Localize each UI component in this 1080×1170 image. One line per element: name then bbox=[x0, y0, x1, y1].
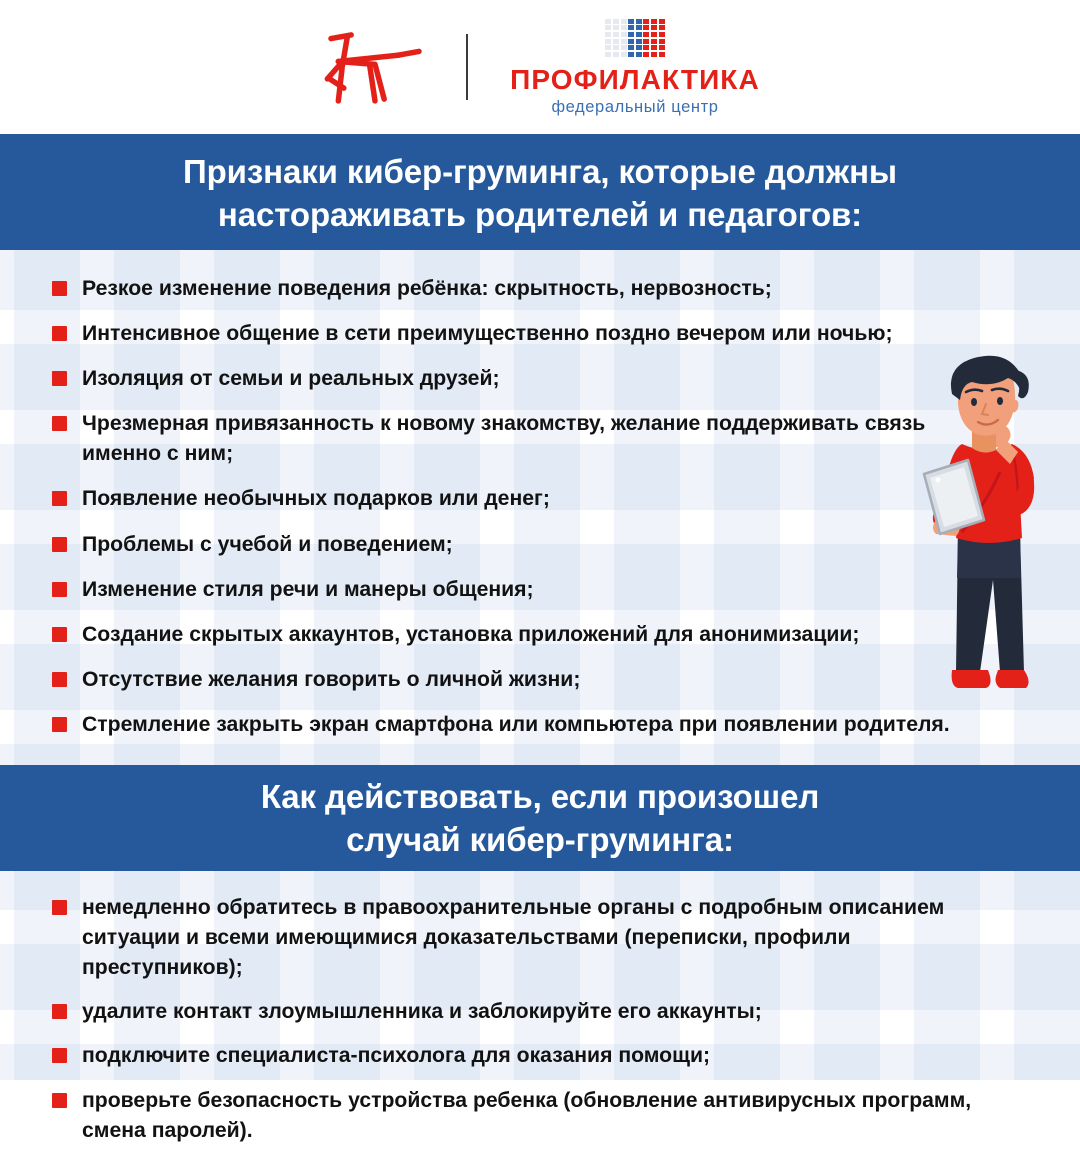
brand-grid-cell bbox=[651, 45, 657, 50]
brand-grid-icon bbox=[605, 19, 664, 57]
brand-grid-cell bbox=[651, 25, 657, 30]
brand-grid-cell bbox=[628, 25, 634, 30]
brand-grid-cell bbox=[621, 45, 627, 50]
section1-heading-line2: настораживать родителей и педагогов: bbox=[218, 194, 862, 237]
square-bullet-icon bbox=[52, 1004, 67, 1019]
list-item: Резкое изменение поведения ребёнка: скры… bbox=[52, 274, 1034, 304]
list-item-label: Изоляция от семьи и реальных друзей; bbox=[82, 364, 500, 394]
section1-heading-banner: Признаки кибер-груминга, которые должны … bbox=[0, 134, 1080, 250]
list-item: удалите контакт злоумышленника и заблоки… bbox=[52, 997, 1034, 1027]
square-bullet-icon bbox=[52, 537, 67, 552]
list-item-label: подключите специалиста-психолога для ока… bbox=[82, 1041, 710, 1071]
brand-grid-cell bbox=[621, 52, 627, 57]
brand-grid-cell bbox=[613, 52, 619, 57]
brand-grid-cell bbox=[628, 45, 634, 50]
section1-heading-line1: Признаки кибер-груминга, которые должны bbox=[183, 151, 897, 194]
list-item: Чрезмерная привязанность к новому знаком… bbox=[52, 409, 1034, 469]
brand-grid-cell bbox=[636, 19, 642, 24]
brand-grid-cell bbox=[621, 39, 627, 44]
list-item: Создание скрытых аккаунтов, установка пр… bbox=[52, 620, 1034, 650]
list-item: Появление необычных подарков или денег; bbox=[52, 484, 1034, 514]
brand-grid-cell bbox=[643, 52, 649, 57]
square-bullet-icon bbox=[52, 672, 67, 687]
brand-grid-cell bbox=[636, 45, 642, 50]
brand-grid-cell bbox=[621, 19, 627, 24]
brand-grid-cell bbox=[643, 45, 649, 50]
brand-grid-cell bbox=[613, 25, 619, 30]
list-item-label: Проблемы с учебой и поведением; bbox=[82, 530, 453, 560]
square-bullet-icon bbox=[52, 371, 67, 386]
list-item-label: Стремление закрыть экран смартфона или к… bbox=[82, 710, 950, 740]
brand-grid-cell bbox=[659, 39, 665, 44]
list-item-label: Интенсивное общение в сети преимуществен… bbox=[82, 319, 893, 349]
horse-logo-icon bbox=[320, 27, 430, 107]
brand-grid-cell bbox=[613, 32, 619, 37]
brand-grid-cell bbox=[621, 32, 627, 37]
square-bullet-icon bbox=[52, 326, 67, 341]
brand-grid-cell bbox=[636, 25, 642, 30]
brand-grid-cell bbox=[651, 19, 657, 24]
brand-grid-cell bbox=[651, 39, 657, 44]
brand-grid-cell bbox=[636, 39, 642, 44]
list-item: Стремление закрыть экран смартфона или к… bbox=[52, 710, 1034, 740]
brand-grid-cell bbox=[636, 32, 642, 37]
square-bullet-icon bbox=[52, 491, 67, 506]
square-bullet-icon bbox=[52, 627, 67, 642]
square-bullet-icon bbox=[52, 416, 67, 431]
square-bullet-icon bbox=[52, 1048, 67, 1063]
brand-grid-cell bbox=[621, 25, 627, 30]
list-item-label: Создание скрытых аккаунтов, установка пр… bbox=[82, 620, 859, 650]
brand-grid-cell bbox=[613, 45, 619, 50]
brand-name: ПРОФИЛАКТИКА bbox=[510, 66, 760, 94]
brand-grid-cell bbox=[628, 39, 634, 44]
brand-grid-cell bbox=[659, 19, 665, 24]
brand-lockup: ПРОФИЛАКТИКА федеральный центр bbox=[510, 19, 760, 115]
brand-grid-cell bbox=[659, 25, 665, 30]
list-item: Интенсивное общение в сети преимуществен… bbox=[52, 319, 1034, 349]
brand-grid-cell bbox=[605, 52, 611, 57]
list-item-label: проверьте безопасность устройства ребенк… bbox=[82, 1086, 982, 1146]
brand-grid-cell bbox=[605, 25, 611, 30]
brand-grid-cell bbox=[613, 19, 619, 24]
brand-grid-cell bbox=[659, 45, 665, 50]
logo-divider bbox=[466, 34, 468, 100]
brand-grid-cell bbox=[651, 52, 657, 57]
brand-grid-cell bbox=[605, 39, 611, 44]
section2-heading-line1: Как действовать, если произошел bbox=[261, 776, 819, 819]
list-item-label: удалите контакт злоумышленника и заблоки… bbox=[82, 997, 762, 1027]
square-bullet-icon bbox=[52, 900, 67, 915]
list-item: немедленно обратитесь в правоохранительн… bbox=[52, 893, 1034, 983]
brand-grid-cell bbox=[613, 39, 619, 44]
brand-grid-cell bbox=[651, 32, 657, 37]
square-bullet-icon bbox=[52, 582, 67, 597]
list-item: подключите специалиста-психолога для ока… bbox=[52, 1041, 1034, 1071]
list-item-label: Изменение стиля речи и манеры общения; bbox=[82, 575, 534, 605]
brand-grid-cell bbox=[643, 39, 649, 44]
square-bullet-icon bbox=[52, 717, 67, 732]
list-item: Проблемы с учебой и поведением; bbox=[52, 530, 1034, 560]
brand-grid-cell bbox=[643, 19, 649, 24]
list-item: Изменение стиля речи и манеры общения; bbox=[52, 575, 1034, 605]
brand-grid-cell bbox=[659, 52, 665, 57]
square-bullet-icon bbox=[52, 1093, 67, 1108]
list-item-label: Появление необычных подарков или денег; bbox=[82, 484, 550, 514]
list-item-label: Отсутствие желания говорить о личной жиз… bbox=[82, 665, 580, 695]
list-item: проверьте безопасность устройства ребенк… bbox=[52, 1086, 1034, 1146]
brand-grid-cell bbox=[628, 19, 634, 24]
section2-heading-banner: Как действовать, если произошел случай к… bbox=[0, 765, 1080, 871]
square-bullet-icon bbox=[52, 281, 67, 296]
page-header: ПРОФИЛАКТИКА федеральный центр bbox=[0, 0, 1080, 134]
section2-list: немедленно обратитесь в правоохранительн… bbox=[0, 871, 1080, 1170]
brand-grid-cell bbox=[643, 32, 649, 37]
brand-grid-cell bbox=[643, 25, 649, 30]
brand-grid-cell bbox=[659, 32, 665, 37]
brand-grid-cell bbox=[636, 52, 642, 57]
list-item-label: немедленно обратитесь в правоохранительн… bbox=[82, 893, 982, 983]
section2-heading-line2: случай кибер-груминга: bbox=[346, 819, 734, 862]
brand-grid-cell bbox=[628, 32, 634, 37]
brand-grid-cell bbox=[605, 45, 611, 50]
brand-grid-cell bbox=[605, 19, 611, 24]
list-item: Отсутствие желания говорить о личной жиз… bbox=[52, 665, 1034, 695]
list-item-label: Резкое изменение поведения ребёнка: скры… bbox=[82, 274, 772, 304]
list-item: Изоляция от семьи и реальных друзей; bbox=[52, 364, 1034, 394]
brand-subtitle: федеральный центр bbox=[551, 99, 718, 116]
brand-grid-cell bbox=[628, 52, 634, 57]
list-item-label: Чрезмерная привязанность к новому знаком… bbox=[82, 409, 987, 469]
brand-grid-cell bbox=[605, 32, 611, 37]
section1-list: Резкое изменение поведения ребёнка: скры… bbox=[0, 250, 1080, 765]
